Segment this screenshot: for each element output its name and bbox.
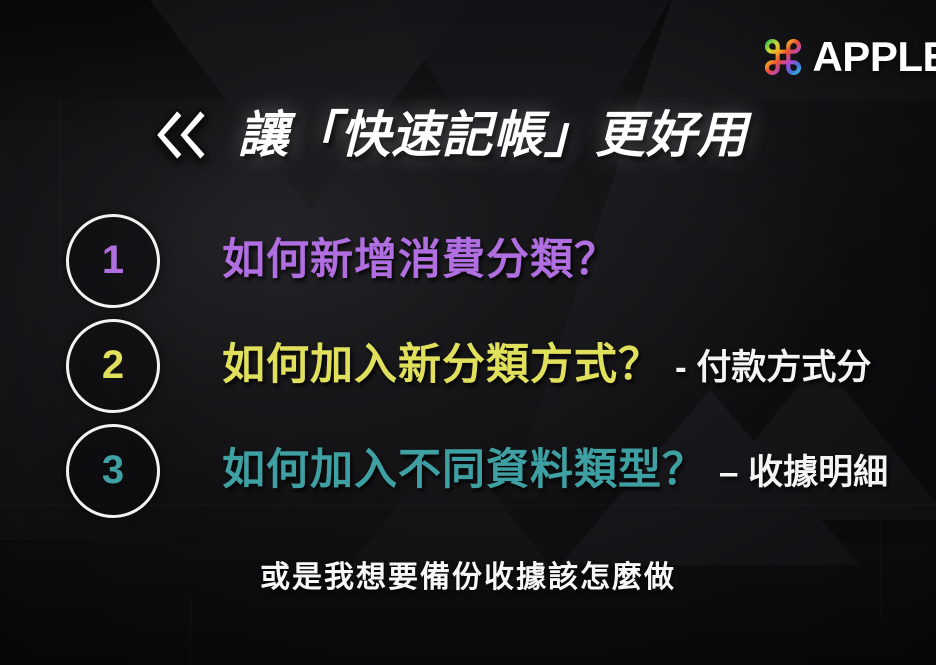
question-list: 1 如何新增消費分類？ 2 如何加入新分類方式？ - 付款方式分 3 如何加入不… (66, 208, 936, 523)
list-item-suffix: - 付款方式分 (675, 348, 871, 387)
slide-canvas: APPLE 讓「快速記帳」更好用 1 如何新增消費分類？ 2 如何加入新分類方式… (0, 0, 936, 665)
list-item-badge-1: 1 (66, 214, 160, 308)
list-item-number: 2 (102, 343, 124, 388)
list-item-text-group: 如何新增消費分類？ (222, 239, 618, 282)
list-item[interactable]: 1 如何新增消費分類？ (66, 208, 936, 313)
list-item-label: 如何新增消費分類？ (222, 236, 618, 284)
list-item-badge-3: 3 (66, 424, 160, 518)
double-chevron-left-icon (148, 104, 210, 166)
command-rainbow-icon (764, 38, 802, 76)
list-item-badge-2: 2 (66, 319, 160, 413)
slide-caption: 或是我想要備份收據該怎麼做 (0, 552, 936, 596)
list-item-suffix: – 收據明細 (719, 453, 888, 492)
background-edge-line-1 (60, 90, 61, 280)
list-item-number: 1 (102, 238, 124, 283)
list-item-number: 3 (102, 448, 124, 493)
list-item-label: 如何加入不同資料類型？ (222, 446, 706, 494)
brand-logo: APPLE (764, 36, 936, 78)
list-item[interactable]: 2 如何加入新分類方式？ - 付款方式分 (66, 313, 936, 418)
slide-title-row: 讓「快速記帳」更好用 (148, 104, 748, 166)
list-item-text-group: 如何加入新分類方式？ - 付款方式分 (222, 344, 871, 387)
list-item[interactable]: 3 如何加入不同資料類型？ – 收據明細 (66, 418, 936, 523)
brand-name: APPLE (812, 36, 936, 78)
list-item-label: 如何加入新分類方式？ (222, 341, 662, 389)
page-title: 讓「快速記帳」更好用 (238, 110, 748, 160)
list-item-text-group: 如何加入不同資料類型？ – 收據明細 (222, 449, 888, 492)
background-edge-line-2 (190, 595, 191, 665)
